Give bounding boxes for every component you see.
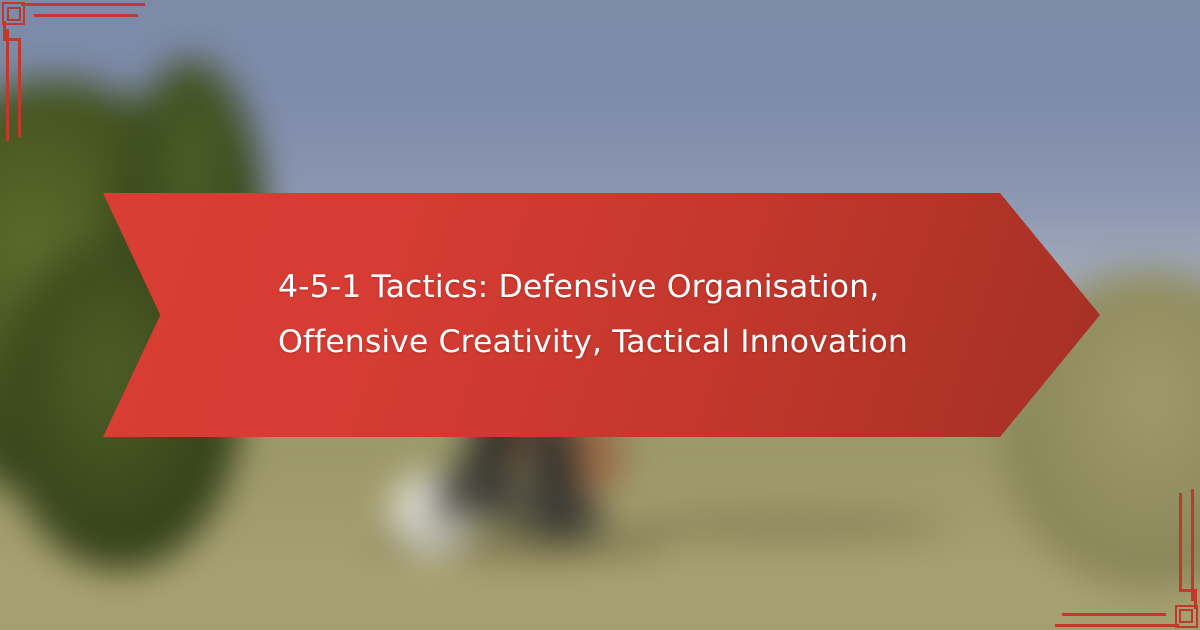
ground-shadow-right [630, 512, 950, 542]
title-line-1: 4-5-1 Tactics: Defensive Organisation, [278, 260, 879, 315]
title-line-2: Offensive Creativity, Tactical Innovatio… [278, 315, 908, 370]
title-ribbon: 4-5-1 Tactics: Defensive Organisation, O… [103, 193, 1100, 437]
banner-graphic: 4-5-1 Tactics: Defensive Organisation, O… [0, 0, 1200, 630]
player-boot-right [519, 494, 601, 538]
football-panel-marking [426, 506, 452, 528]
